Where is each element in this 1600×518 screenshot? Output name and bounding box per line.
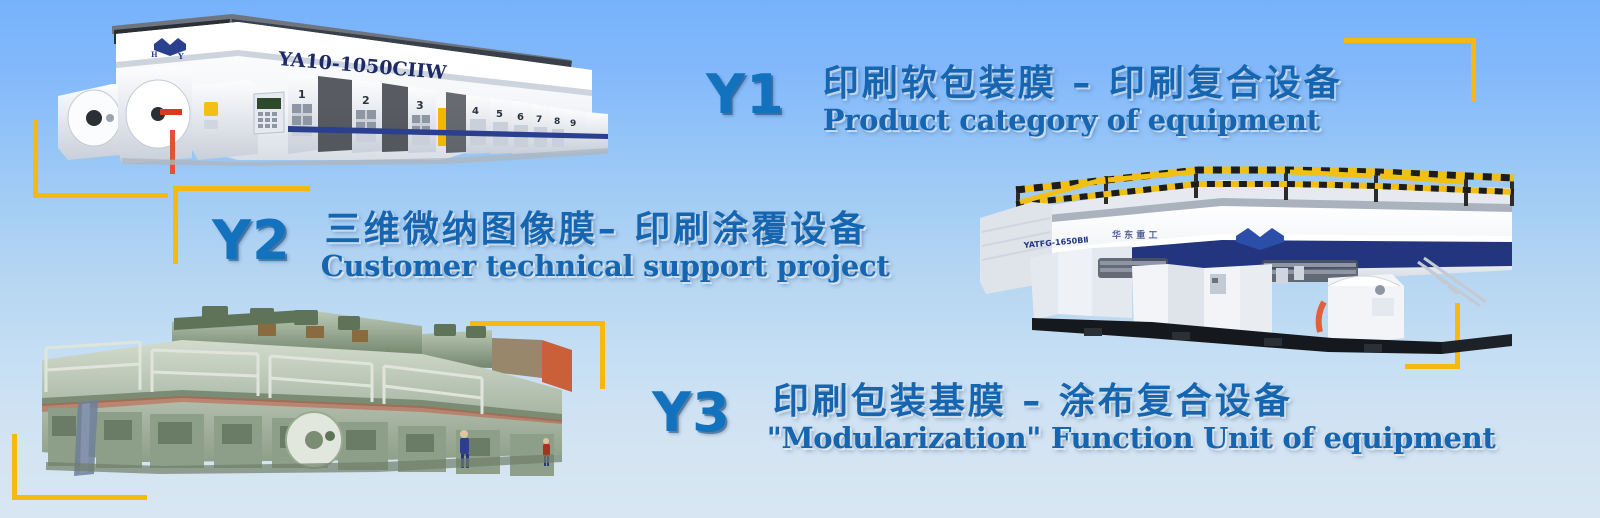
text-group-y3: Y3 印刷包装基膜 – 涂布复合设备 "Modularization" Func… <box>652 386 1495 454</box>
svg-text:9: 9 <box>570 119 576 129</box>
label-en-y1: Product category of equipment <box>823 104 1343 136</box>
svg-text:华 东 重 工: 华 东 重 工 <box>1112 229 1157 241</box>
bracket-y3-left-vertical <box>12 434 17 500</box>
svg-text:3: 3 <box>416 99 424 112</box>
svg-text:7: 7 <box>536 115 542 125</box>
text-stack-y3: 印刷包装基膜 – 涂布复合设备 "Modularization" Functio… <box>767 382 1496 454</box>
svg-text:Y: Y <box>177 51 184 61</box>
text-group-y2: Y2 三维微纳图像膜– 印刷涂覆设备 Customer technical su… <box>212 214 889 282</box>
svg-text:6: 6 <box>517 112 524 123</box>
bracket-y1-left-horizontal <box>33 193 168 198</box>
label-code-y3: Y3 <box>652 386 731 440</box>
promo-banner: H Y YA10-1050CIIW <box>0 0 1600 518</box>
svg-text:H: H <box>151 50 158 59</box>
svg-text:8: 8 <box>554 117 560 127</box>
svg-text:5: 5 <box>496 109 503 120</box>
label-en-y2: Customer technical support project <box>321 250 890 282</box>
label-code-y2: Y2 <box>212 214 291 268</box>
text-group-y1: Y1 印刷软包装膜 – 印刷复合设备 Product category of e… <box>706 68 1343 136</box>
label-en-y3: "Modularization" Function Unit of equipm… <box>767 422 1496 454</box>
bracket-y1-left-vertical <box>33 120 38 198</box>
bracket-y3-right-foot <box>1405 364 1460 369</box>
svg-text:1: 1 <box>298 88 306 101</box>
bracket-y2-left-vertical <box>173 186 178 264</box>
text-stack-y1: 印刷软包装膜 – 印刷复合设备 Product category of equi… <box>823 64 1343 136</box>
text-stack-y2: 三维微纳图像膜– 印刷涂覆设备 Customer technical suppo… <box>325 210 890 282</box>
bracket-y1-top-horizontal <box>1344 38 1476 43</box>
bracket-y2-right-vertical <box>600 321 605 389</box>
svg-text:4: 4 <box>472 106 479 117</box>
machine-paper-coating-line <box>22 304 582 486</box>
label-cn-y2: 三维微纳图像膜– 印刷涂覆设备 <box>325 210 890 250</box>
machine-rotogravure-press: H Y YA10-1050CIIW <box>52 8 612 180</box>
bracket-y3-bottom-horizontal <box>12 495 147 500</box>
svg-text:2: 2 <box>362 94 370 107</box>
bracket-y1-right-vertical <box>1471 38 1476 102</box>
label-cn-y3: 印刷包装基膜 – 涂布复合设备 <box>773 382 1496 422</box>
machine-coating-laminating: 华 东 重 工 YATFG-1650BⅡ <box>972 162 1532 362</box>
bracket-y2-top-horizontal <box>173 186 310 191</box>
label-code-y1: Y1 <box>706 68 785 122</box>
label-cn-y1: 印刷软包装膜 – 印刷复合设备 <box>823 64 1343 104</box>
